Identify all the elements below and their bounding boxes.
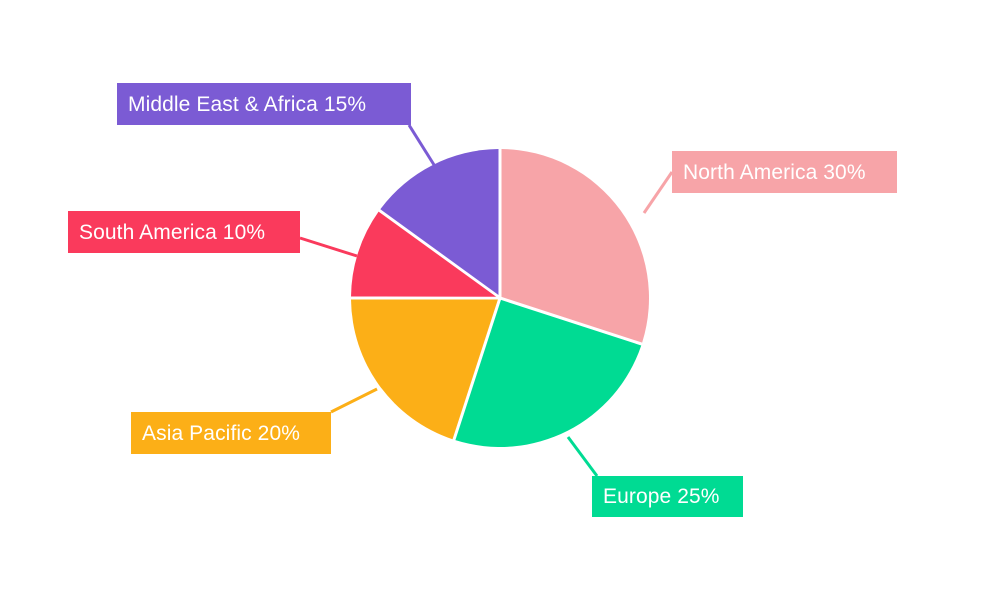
pie-label-south-america[interactable]: South America 10% (68, 211, 300, 253)
pie-label-text: Asia Pacific 20% (142, 423, 300, 444)
pie-label-asia-pacific[interactable]: Asia Pacific 20% (131, 412, 331, 454)
leader-line-north-america (644, 172, 672, 213)
pie-slice-group (351, 149, 649, 447)
leader-line-middle-east-africa (409, 125, 436, 168)
pie-label-text: Europe 25% (603, 486, 720, 507)
pie-label-north-america[interactable]: North America 30% (672, 151, 897, 193)
pie-label-text: North America 30% (683, 162, 866, 183)
pie-label-text: Middle East & Africa 15% (128, 94, 366, 115)
pie-chart-figure: North America 30%Europe 25%Asia Pacific … (0, 0, 1000, 600)
leader-line-south-america (300, 238, 357, 256)
leader-line-asia-pacific (331, 389, 377, 412)
leader-line-europe (568, 437, 597, 476)
pie-label-middle-east-africa[interactable]: Middle East & Africa 15% (117, 83, 411, 125)
pie-label-text: South America 10% (79, 222, 265, 243)
pie-label-europe[interactable]: Europe 25% (592, 476, 743, 517)
